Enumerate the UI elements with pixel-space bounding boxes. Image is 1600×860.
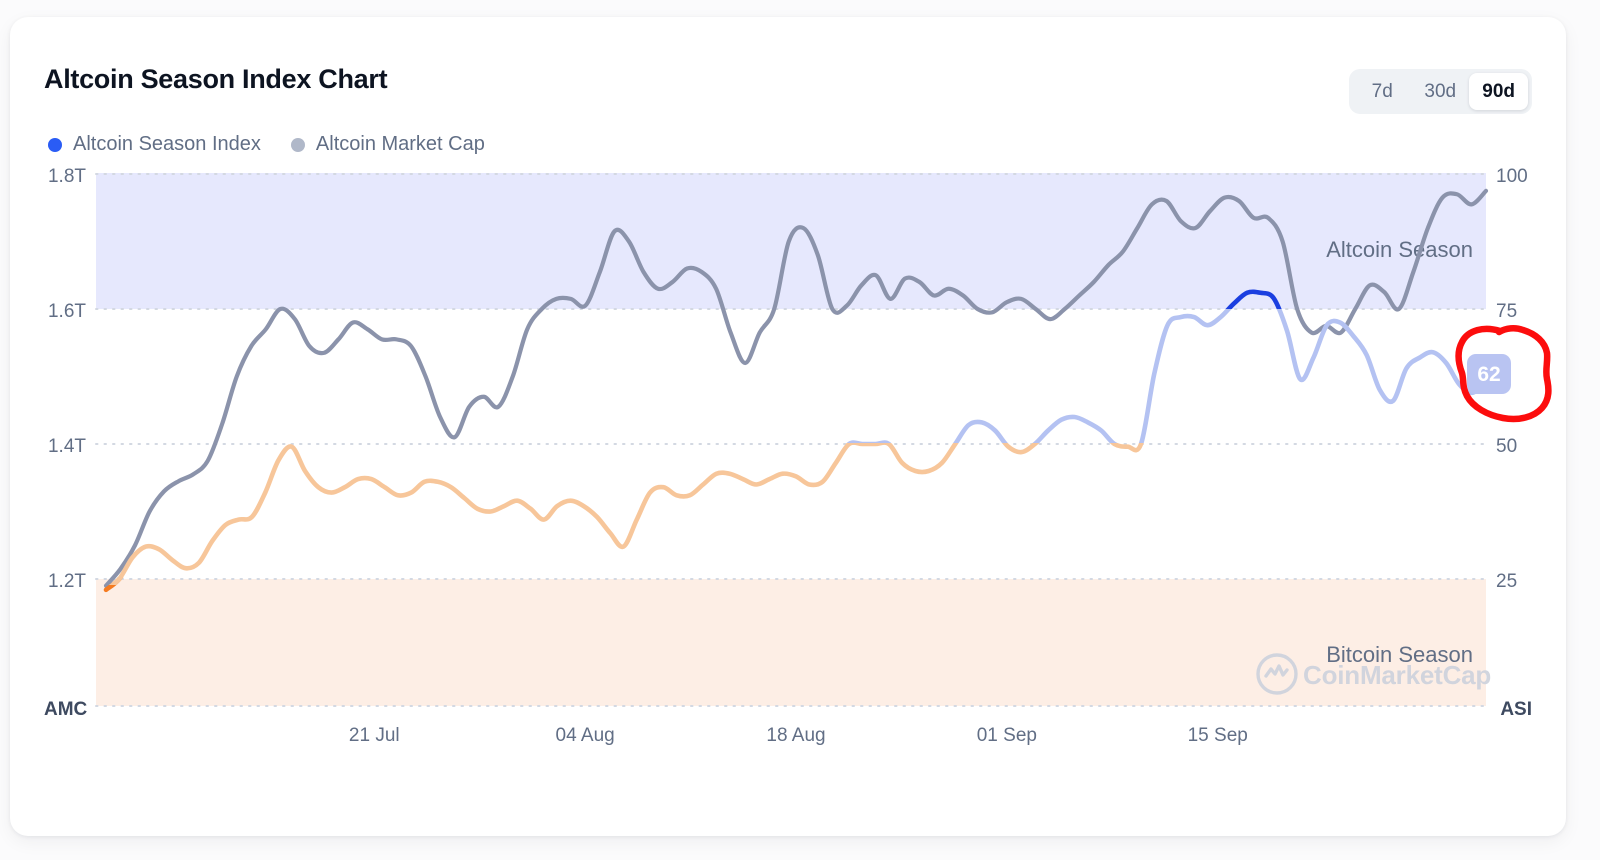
- chart-plot-area[interactable]: Altcoin Season Bitcoin Season CoinMarket…: [10, 17, 1566, 836]
- altcoin-season-index-chart[interactable]: Altcoin Season Bitcoin Season CoinMarket…: [10, 17, 1566, 836]
- x-axis-tick-2: 18 Aug: [766, 725, 825, 746]
- asi-line-segment-bitcoin-season: [106, 292, 1486, 590]
- altcoin-season-band-label: Altcoin Season: [1326, 237, 1473, 262]
- altcoin-season-index-card: Altcoin Season Index Chart 7d 30d 90d Al…: [10, 17, 1566, 836]
- left-axis-tick-1-2t: 1.2T: [48, 571, 86, 592]
- left-axis-tick-1-4t: 1.4T: [48, 436, 86, 457]
- x-axis: 21 Jul 04 Aug 18 Aug 01 Sep 15 Sep: [349, 725, 1248, 746]
- left-axis-name: AMC: [44, 699, 88, 720]
- x-axis-tick-3: 01 Sep: [977, 725, 1037, 746]
- right-axis: 100 75 50 25 ASI: [1496, 166, 1532, 720]
- left-axis-tick-1-6t: 1.6T: [48, 301, 86, 322]
- left-axis: 1.8T 1.6T 1.4T 1.2T AMC: [44, 166, 88, 720]
- current-value-badge-label: 62: [1477, 363, 1500, 386]
- right-axis-tick-75: 75: [1496, 301, 1517, 322]
- x-axis-tick-1: 04 Aug: [556, 725, 615, 746]
- asi-line-segment-altcoin-season: [106, 292, 1486, 590]
- coinmarketcap-watermark-label: CoinMarketCap: [1303, 660, 1491, 690]
- current-value-badge: 62: [1467, 354, 1511, 394]
- right-axis-tick-25: 25: [1496, 571, 1517, 592]
- right-axis-tick-50: 50: [1496, 436, 1517, 457]
- x-axis-tick-0: 21 Jul: [349, 725, 400, 746]
- left-axis-tick-1-8t: 1.8T: [48, 166, 86, 187]
- page-root: Altcoin Season Index Chart 7d 30d 90d Al…: [0, 0, 1600, 860]
- right-axis-name: ASI: [1500, 699, 1532, 720]
- x-axis-tick-4: 15 Sep: [1188, 725, 1248, 746]
- asi-line-segment-neutral: [106, 292, 1486, 590]
- asi-line-segment-low: [106, 292, 1486, 590]
- right-axis-tick-100: 100: [1496, 166, 1528, 187]
- bitcoin-season-band: [96, 579, 1486, 706]
